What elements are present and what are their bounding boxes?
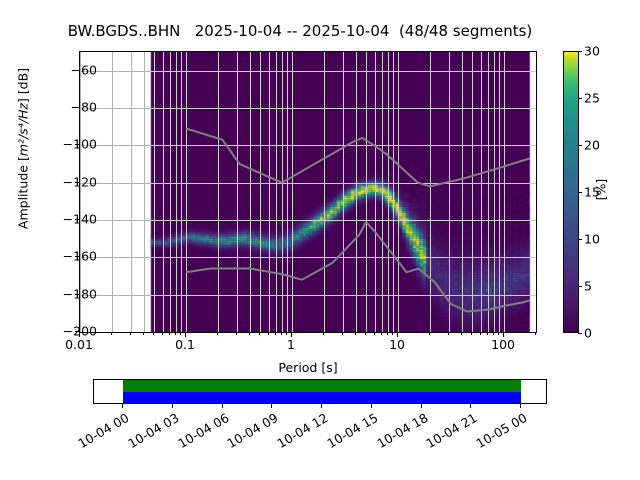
ppsd-figure: BW.BGDS..BHN 2025-10-04 -- 2025-10-04 (4… xyxy=(0,0,640,480)
x-minor-tick-mark xyxy=(471,333,472,335)
coverage-timeline[interactable] xyxy=(93,379,547,404)
x-minor-tick-mark xyxy=(268,333,269,335)
x-minor-tick-mark xyxy=(169,333,170,335)
x-tick-label: 10 xyxy=(389,337,405,352)
colorbar-tick-mark xyxy=(578,333,582,334)
x-minor-tick-mark xyxy=(392,333,393,335)
colorbar-tick-label: 10 xyxy=(584,232,600,247)
data-coverage-bar xyxy=(123,380,521,392)
colorbar-tick-label: 5 xyxy=(584,279,592,294)
x-tick-mark xyxy=(503,333,504,337)
x-minor-tick-mark xyxy=(381,333,382,335)
plot-title: BW.BGDS..BHN 2025-10-04 -- 2025-10-04 (4… xyxy=(0,22,600,40)
y-tick-label: −60 xyxy=(37,62,97,77)
noise-model-curves xyxy=(80,52,536,332)
noise-model-nhnm xyxy=(186,129,530,187)
x-minor-tick-mark xyxy=(236,333,237,335)
timeline-tick-mark xyxy=(371,404,372,408)
x-tick-mark xyxy=(185,333,186,337)
timeline-tick-mark xyxy=(520,404,521,408)
noise-model-nlnm xyxy=(186,222,530,312)
x-minor-tick-mark xyxy=(175,333,176,335)
timeline-tick-mark xyxy=(222,404,223,408)
y-tick-label: −140 xyxy=(37,212,97,227)
colorbar-tick-label: 30 xyxy=(584,44,600,59)
y-axis-label-suffix: ] [dB] xyxy=(16,68,31,103)
x-tick-label: 0.01 xyxy=(65,337,93,352)
x-minor-tick-mark xyxy=(365,333,366,335)
colorbar[interactable] xyxy=(563,51,579,333)
timeline-tick-mark xyxy=(321,404,322,408)
y-tick-mark xyxy=(75,70,79,71)
timeline-tick-mark xyxy=(470,404,471,408)
x-minor-tick-mark xyxy=(162,333,163,335)
y-tick-label: −160 xyxy=(37,249,97,264)
x-minor-tick-mark xyxy=(493,333,494,335)
x-tick-label: 0.1 xyxy=(175,337,195,352)
x-minor-tick-mark xyxy=(281,333,282,335)
x-minor-tick-mark xyxy=(429,333,430,335)
ppsd-axes[interactable] xyxy=(79,51,537,333)
timeline-tick-mark xyxy=(172,404,173,408)
x-tick-mark xyxy=(291,333,292,337)
x-minor-tick-mark xyxy=(153,333,154,335)
x-minor-tick-mark xyxy=(498,333,499,335)
colorbar-tick-label: 20 xyxy=(584,138,600,153)
x-minor-tick-mark xyxy=(535,333,536,335)
colorbar-tick-mark xyxy=(578,51,582,52)
colorbar-tick-label: 25 xyxy=(584,91,600,106)
colorbar-tick-label: 0 xyxy=(584,326,592,341)
x-minor-tick-mark xyxy=(448,333,449,335)
y-tick-label: −80 xyxy=(37,100,97,115)
x-minor-tick-mark xyxy=(387,333,388,335)
y-axis-label-unit: m²/s⁴/Hz xyxy=(16,103,31,156)
x-minor-tick-mark xyxy=(323,333,324,335)
x-minor-tick-mark xyxy=(143,333,144,335)
x-minor-tick-mark xyxy=(342,333,343,335)
y-tick-mark xyxy=(75,107,79,108)
x-tick-label: 100 xyxy=(491,337,515,352)
colorbar-tick-mark xyxy=(578,286,582,287)
y-tick-mark xyxy=(75,331,79,332)
y-tick-mark xyxy=(75,144,79,145)
y-tick-label: −100 xyxy=(37,137,97,152)
timeline-tick-mark xyxy=(122,404,123,408)
timeline-tick-mark xyxy=(421,404,422,408)
y-axis-label-prefix: Amplitude [ xyxy=(16,156,31,229)
y-tick-mark xyxy=(75,256,79,257)
x-minor-tick-mark xyxy=(217,333,218,335)
colorbar-tick-mark xyxy=(578,239,582,240)
y-tick-mark xyxy=(75,219,79,220)
x-minor-tick-mark xyxy=(180,333,181,335)
colorbar-label: [%] xyxy=(594,160,609,220)
x-minor-tick-mark xyxy=(111,333,112,335)
colorbar-tick-mark xyxy=(578,145,582,146)
x-minor-tick-mark xyxy=(286,333,287,335)
x-minor-tick-mark xyxy=(355,333,356,335)
y-tick-label: −180 xyxy=(37,286,97,301)
y-tick-label: −120 xyxy=(37,174,97,189)
x-minor-tick-mark xyxy=(130,333,131,335)
colorbar-tick-mark xyxy=(578,192,582,193)
psd-segments-bar xyxy=(123,392,521,404)
x-minor-tick-mark xyxy=(259,333,260,335)
colorbar-tick-mark xyxy=(578,98,582,99)
x-tick-label: 1 xyxy=(287,337,295,352)
x-minor-tick-mark xyxy=(374,333,375,335)
x-minor-tick-mark xyxy=(275,333,276,335)
x-axis-label: Period [s] xyxy=(79,360,537,375)
y-tick-mark xyxy=(75,182,79,183)
x-tick-mark xyxy=(79,333,80,337)
x-minor-tick-mark xyxy=(487,333,488,335)
timeline-tick-mark xyxy=(271,404,272,408)
x-tick-mark xyxy=(397,333,398,337)
x-minor-tick-mark xyxy=(480,333,481,335)
x-minor-tick-mark xyxy=(461,333,462,335)
y-tick-mark xyxy=(75,294,79,295)
y-axis-label: Amplitude [m²/s⁴/Hz] [dB] xyxy=(16,19,31,279)
x-minor-tick-mark xyxy=(249,333,250,335)
